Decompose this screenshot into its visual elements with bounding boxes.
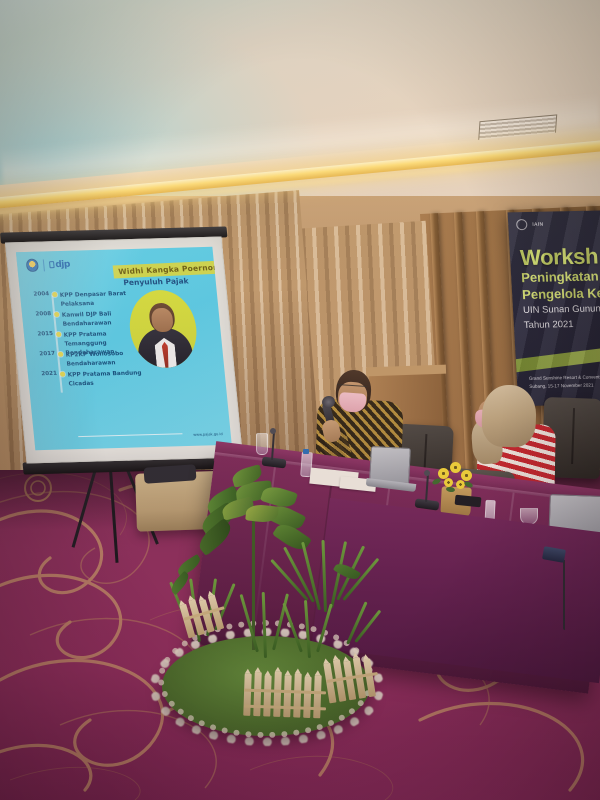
- timeline-dot-icon: [54, 312, 59, 317]
- banner-dates: Subang, 15-17 November 2021: [529, 383, 593, 389]
- portrait-suit: [136, 327, 194, 368]
- timeline-year: 2004: [27, 292, 50, 298]
- timeline-label: KPP Pratama Temanggung Bendaharawan: [63, 329, 152, 358]
- banner-year: Tahun 2021: [524, 319, 574, 331]
- desk-microphone-head-icon: [424, 470, 430, 476]
- portrait-hair: [148, 303, 176, 333]
- djp-logo-mark-icon: [49, 261, 55, 268]
- logo-divider: [43, 259, 45, 271]
- portrait-tie: [161, 342, 170, 368]
- slide-footer-url: www.pajak.go.id: [193, 432, 223, 437]
- speaker-portrait: [126, 289, 200, 368]
- banner-subtitle-line1: Peningkatan: [521, 268, 599, 285]
- timeline-entry: 2008 Kanwil DJP Bali Bendaharawan: [29, 310, 113, 330]
- timeline-year: 2015: [31, 332, 54, 338]
- slide-speaker-name: Widhi Kangka Poernomo: [113, 260, 232, 278]
- banner-institution: UIN Sunan Gunung Dj: [523, 303, 600, 316]
- timeline-label: KP2KP Wonosobo Bendaharawan: [65, 350, 124, 369]
- timeline-label: KPP Pratama Bandung Cicadas: [67, 369, 155, 389]
- timeline-dot-icon: [52, 292, 57, 297]
- timeline-entry: 2017 KP2KP Wonosobo Bendaharawan: [33, 350, 125, 370]
- government-emblem-icon: [26, 259, 39, 272]
- portrait-shirt: [154, 338, 177, 368]
- timeline-dot-icon: [60, 372, 65, 377]
- flower-bloom: [450, 462, 461, 473]
- flower-bloom: [461, 470, 472, 481]
- djp-logo-text: djp: [49, 259, 71, 270]
- timeline-dot-icon: [56, 332, 61, 337]
- flower-bloom: [444, 478, 453, 487]
- presentation-slide: djp Widhi Kangka Poernomo Penyuluh Pajak…: [16, 247, 232, 451]
- desk-microphone-head-icon: [270, 428, 276, 434]
- banner-subtitle-line2: Pengelola Keu: [522, 285, 600, 302]
- conference-room-photo: IAIN Worksh Peningkatan Pengelola Keu UI…: [0, 0, 600, 800]
- timeline-entry: 2021 KPP Pratama Bandung Cicadas: [35, 369, 155, 390]
- panelist-hijab: [481, 384, 537, 448]
- timeline-label: KPP Denpasar Barat Pelaksana: [60, 290, 128, 310]
- slide-timeline-axis: [51, 295, 62, 393]
- timeline-entry: 2015 KPP Pratama Temanggung Bendaharawan: [31, 329, 152, 359]
- banner-title: Worksh: [519, 244, 598, 272]
- banner-venue: Grand Sunshine Resort & Convention: [529, 374, 600, 381]
- timeline-year: 2017: [33, 352, 56, 358]
- screen-surface: djp Widhi Kangka Poernomo Penyuluh Pajak…: [5, 237, 243, 464]
- timeline-entry: 2004 KPP Denpasar Barat Pelaksana: [27, 290, 128, 311]
- event-banner: IAIN Worksh Peningkatan Pengelola Keu UI…: [508, 210, 600, 406]
- bottle-cap: [303, 449, 309, 454]
- picket-fence: [243, 671, 322, 719]
- timeline-year: 2021: [35, 372, 58, 378]
- banner-logo-text: IAIN: [532, 221, 544, 227]
- timeline-label: Kanwil DJP Bali Bendaharawan: [61, 310, 112, 329]
- slide-logo-group: djp: [26, 258, 71, 272]
- banner-swoosh: [508, 341, 600, 373]
- power-cable: [563, 560, 565, 630]
- banner-logo-mark-icon: [516, 219, 528, 230]
- timeline-year: 2008: [29, 312, 52, 318]
- portrait-face: [151, 308, 174, 332]
- drinking-glass: [256, 433, 268, 455]
- banner-logo: IAIN: [516, 219, 544, 231]
- slide-speaker-role: Penyuluh Pajak: [123, 276, 189, 287]
- timeline-dot-icon: [58, 352, 63, 357]
- slide-footer-rule: [78, 433, 182, 437]
- projection-screen: djp Widhi Kangka Poernomo Penyuluh Pajak…: [5, 237, 243, 464]
